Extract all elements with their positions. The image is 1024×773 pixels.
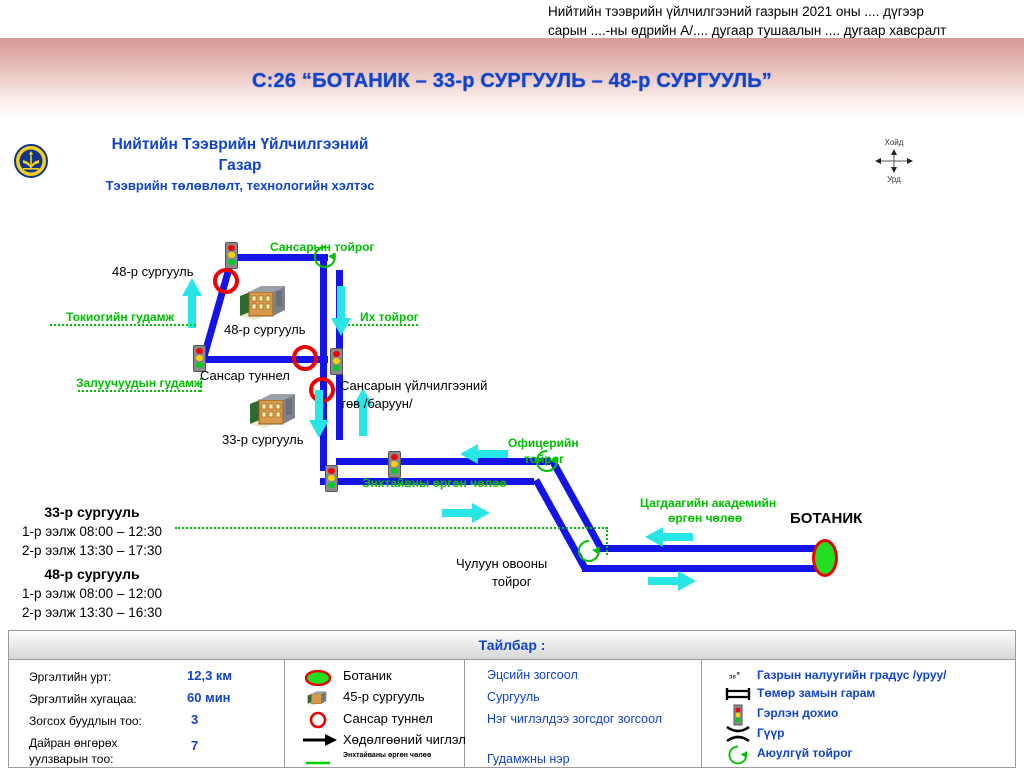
street-label: өргөн чөлөө (668, 511, 742, 525)
terminus-label: БОТАНИК (790, 510, 862, 527)
schedule-33-shift1: 1-р ээлж 08:00 – 12:30 (22, 522, 162, 541)
organization-block: Нийтийн Тээврийн Үйлчилгээний Газар Тээв… (60, 134, 420, 193)
red-circle-stop-icon (309, 711, 327, 734)
street-dotted-line (606, 527, 608, 555)
street-label: Цагдаагийн академийн (640, 496, 776, 510)
street-label: Токиогийн гудамж (66, 310, 174, 324)
legend-symbol-name: 45-р сургууль (343, 689, 425, 704)
red-circle-stop-icon (292, 345, 318, 371)
street-dotted-line (175, 527, 607, 529)
street-dotted-line (78, 390, 200, 392)
place-label: төв /баруун/ (340, 396, 413, 411)
legend-meaning-street-name: Гудамжны нэр (487, 752, 570, 766)
street-label: Сансарын тойрог (270, 240, 374, 254)
direction-arrow-icon (330, 286, 352, 341)
stat-value: 60 мин (187, 690, 231, 705)
direction-arrow-icon (442, 502, 490, 529)
legend-panel: Тайлбар : Эргэлтийн урт: 12,3 км Эргэлти… (8, 630, 1016, 768)
legend-meaning: Сургууль (487, 690, 540, 704)
green-line-street-icon (305, 754, 331, 772)
compass-south-label: Урд (866, 175, 922, 184)
org-name-line2: Газар (60, 155, 420, 176)
legend-symbol-name: Ботаник (343, 668, 392, 683)
legend-symbol-name: Энхтайваны өргөн чөлөө (343, 752, 431, 759)
traffic-light-icon (225, 242, 238, 269)
legend-symbol-name: Хөдөлгөөний чиглэл (343, 732, 466, 747)
legend-right-label: Газрын налуугийн градус /уруу/ (757, 668, 947, 682)
slope-degree-icon: ₃₅° (729, 670, 740, 680)
schedule-48-shift2: 2-р ээлж 13:30 – 16:30 (22, 603, 162, 622)
place-label: 33-р сургууль (222, 432, 304, 447)
street-label: Энхтайвны өргөн чөлөө (362, 476, 507, 490)
legend-divider (284, 660, 285, 768)
street-label: тойрог (524, 452, 564, 466)
route-title: С:26 “БОТАНИК – 33-р СУРГУУЛЬ – 48-р СУР… (0, 70, 1024, 93)
stat-label: Зогсох буудлын тоо: (29, 714, 142, 728)
place-label: 48-р сургууль (112, 264, 194, 279)
schedule-33-school: 33-р сургууль (22, 503, 162, 522)
legend-right-label: Аюулгүй тойрог (757, 746, 853, 760)
street-dotted-line (348, 324, 418, 326)
stat-label: Эргэлтийн хугацаа: (29, 692, 137, 706)
street-label: Их тойрог (360, 310, 419, 324)
schedule-48-school: 48-р сургууль (22, 565, 162, 584)
org-name-line1: Нийтийн Тээврийн Үйлчилгээний (60, 134, 420, 155)
compass-north-label: Хойд (866, 138, 922, 147)
legend-header: Тайлбар : (9, 631, 1015, 660)
street-label: Залуучуудын гудамж (76, 376, 203, 390)
legend-divider (701, 660, 702, 768)
green-ellipse-terminus-icon (305, 670, 331, 691)
direction-arrow-icon (645, 526, 693, 553)
stat-value: 3 (191, 712, 198, 727)
school-building-icon (306, 689, 330, 712)
stat-label: Дайран өнгөрөх (29, 736, 118, 750)
legend-right-label: Гэрлэн дохио (757, 706, 838, 720)
place-label: Чулуун овооны (456, 556, 547, 571)
stat-value: 12,3 км (187, 668, 232, 683)
legend-body: Эргэлтийн урт: 12,3 км Эргэлтийн хугацаа… (9, 660, 1015, 768)
street-label: Офицерийн (508, 436, 579, 450)
legend-right-label: Төмөр замын гарам (757, 686, 875, 700)
schedule-33-shift2: 2-р ээлж 13:30 – 17:30 (22, 541, 162, 560)
road-segment (336, 458, 550, 465)
order-note: Нийтийн тээврийн үйлчилгээний газрын 202… (548, 2, 1018, 40)
org-department: Тээврийн төлөвлөлт, технологийн хэлтэс (60, 178, 420, 193)
legend-meaning: Эцсийн зогсоол (487, 668, 578, 682)
place-label: Сансарын үйлчилгээний (340, 378, 487, 393)
legend-meaning: Нэг чиглэлдээ зогсдог зогсоол (487, 712, 662, 726)
compass-rose: Хойд Урд (866, 138, 922, 194)
legend-right-label: Гүүр (757, 726, 784, 740)
stat-label-2: уулзварын тоо: (29, 752, 113, 766)
school-building-icon (246, 390, 304, 430)
place-label: Сансар туннел (200, 368, 290, 383)
school-building-icon (236, 282, 294, 322)
emblem-icon (14, 144, 48, 178)
place-label: 48-р сургууль (224, 322, 306, 337)
direction-arrow-icon (460, 443, 508, 470)
traffic-light-icon (325, 465, 338, 492)
road-segment (582, 565, 816, 572)
roundabout-icon (727, 744, 749, 771)
stat-label: Эргэлтийн урт: (29, 670, 112, 684)
place-label: тойрог (492, 574, 532, 589)
schedule-48: 48-р сургууль 1-р ээлж 08:00 – 12:00 2-р… (22, 565, 162, 622)
traffic-light-icon (388, 451, 401, 478)
direction-arrow-icon (648, 570, 696, 597)
compass-arrows-icon (874, 148, 914, 174)
traffic-light-icon (330, 348, 343, 375)
legend-symbol-name: Сансар туннел (343, 711, 433, 726)
schedule-33: 33-р сургууль 1-р ээлж 08:00 – 12:30 2-р… (22, 503, 162, 560)
road-segment (598, 545, 816, 552)
legend-divider (464, 660, 465, 768)
stat-value: 7 (191, 738, 198, 753)
green-ellipse-terminus-icon (812, 539, 838, 577)
roundabout-icon (576, 538, 602, 569)
legend-title: Тайлбар : (479, 637, 546, 653)
street-dotted-line (50, 324, 196, 326)
direction-arrow-icon (308, 390, 330, 443)
black-arrow-direction-icon (303, 732, 337, 753)
order-note-line1: Нийтийн тээврийн үйлчилгээний газрын 202… (548, 2, 1018, 21)
schedule-48-shift1: 1-р ээлж 08:00 – 12:00 (22, 584, 162, 603)
